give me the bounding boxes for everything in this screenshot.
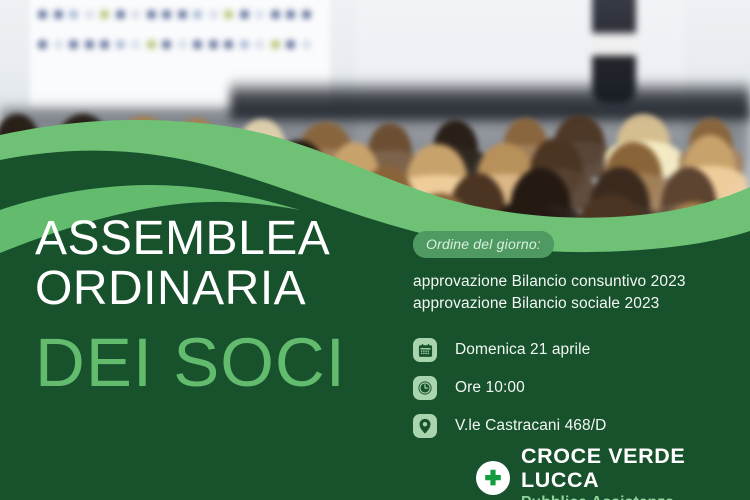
event-detail-location: V.le Castracani 468/D [413,413,733,439]
logo-name: CROCE VERDE LUCCA [521,444,750,492]
assembly-announcement-poster: ASSEMBLEA ORDINARIA DEI SOCI Ordine del … [0,0,750,500]
clock-icon [413,376,437,400]
event-details-list: Domenica 21 aprile Ore 10:00 [413,337,733,439]
headline-line-1: ASSEMBLEA [35,214,415,264]
agenda-list: approvazione Bilancio consuntivo 2023 ap… [413,271,733,315]
event-detail-time: Ore 10:00 [413,375,733,401]
page-title: ASSEMBLEA ORDINARIA DEI SOCI [35,214,415,400]
location-pin-icon [413,414,437,438]
event-detail-date: Domenica 21 aprile [413,337,733,363]
headline-line-3: DEI SOCI [35,326,415,400]
event-date-text: Domenica 21 aprile [455,341,590,359]
agenda-item: approvazione Bilancio consuntivo 2023 [413,271,733,293]
logo-tagline: Pubblica Assistenza [521,493,750,500]
event-time-text: Ore 10:00 [455,379,525,397]
agenda-panel: Ordine del giorno: approvazione Bilancio… [413,231,733,451]
headline-line-2: ORDINARIA [35,264,415,314]
calendar-icon [413,338,437,362]
logo-text-block: CROCE VERDE LUCCA Pubblica Assistenza [521,444,750,500]
status-badge: Ordine del giorno: [413,231,554,258]
agenda-item: approvazione Bilancio sociale 2023 [413,293,733,315]
green-cross-icon [476,461,510,495]
organization-logo: CROCE VERDE LUCCA Pubblica Assistenza [476,444,750,500]
event-location-text: V.le Castracani 468/D [455,417,606,435]
